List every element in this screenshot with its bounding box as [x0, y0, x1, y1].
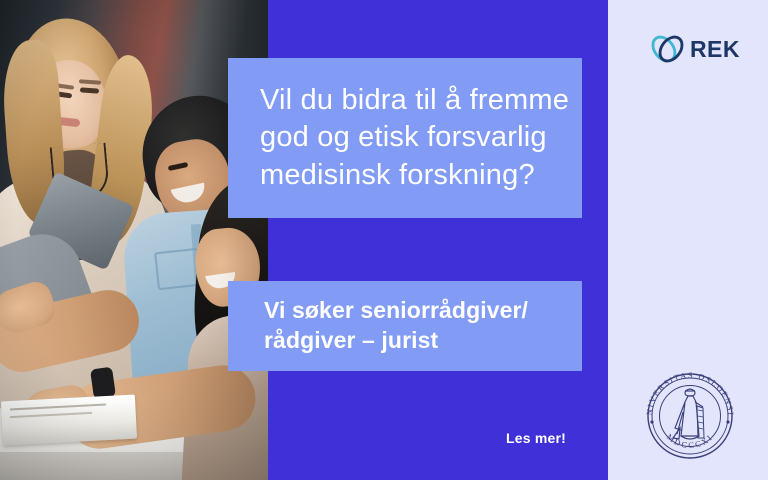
- uio-seal-icon: UNIVERSITAS OSLOENSIS MDCCCXI: [636, 362, 744, 470]
- recruitment-banner: Vil du bidra til å fremme god og etisk f…: [0, 0, 768, 480]
- job-title-text: Vi søker seniorrådgiver/ rådgiver – juri…: [264, 296, 528, 356]
- headline-text: Vil du bidra til å fremme god og etisk f…: [260, 82, 569, 193]
- rek-logo[interactable]: REK: [648, 26, 740, 72]
- svg-text:MDCCCXI: MDCCCXI: [665, 432, 715, 450]
- svg-text:UNIVERSITAS OSLOENSIS: UNIVERSITAS OSLOENSIS: [636, 362, 735, 417]
- read-more-link[interactable]: Les mer!: [506, 430, 566, 446]
- headline-box: Vil du bidra til å fremme god og etisk f…: [228, 58, 582, 218]
- uio-seal-apollo-figure: [673, 389, 704, 439]
- uio-seal-bottom-text: MDCCCXI: [665, 432, 715, 450]
- job-title-box: Vi søker seniorrådgiver/ rådgiver – juri…: [228, 281, 582, 371]
- uio-seal-top-text: UNIVERSITAS OSLOENSIS: [636, 362, 735, 417]
- rek-interlocking-ellipses-icon: [648, 27, 687, 71]
- rek-wordmark: REK: [690, 36, 740, 63]
